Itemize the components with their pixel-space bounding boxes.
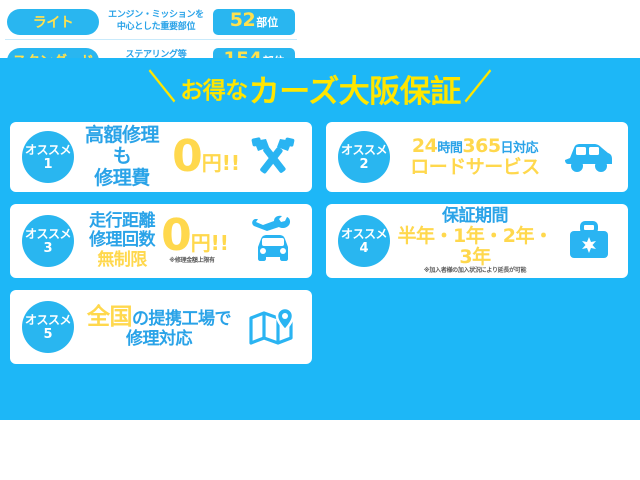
panel-2-text: 24時間365日対応 ロードサービス bbox=[410, 136, 540, 179]
wrench-car-icon bbox=[244, 215, 302, 267]
toolcase-icon bbox=[560, 221, 618, 261]
panel-2-line1: 24時間365日対応 bbox=[410, 136, 540, 157]
feature-panel-1: オススメ 1 高額修理も 修理費 0 円!! bbox=[10, 122, 312, 192]
badge-osusume-2: オススメ 2 bbox=[338, 131, 390, 183]
plan-part-count: 52 部位 bbox=[213, 9, 295, 35]
plan-name-badge: ライト bbox=[7, 9, 99, 35]
panel-5-line2: 修理対応 bbox=[87, 330, 231, 349]
header-large-text: カーズ大阪保証 bbox=[249, 66, 461, 111]
badge-osusume-3: オススメ 3 bbox=[22, 215, 74, 267]
badge-number: 5 bbox=[43, 328, 52, 341]
badge-number: 2 bbox=[359, 158, 368, 171]
panel-3-line3: 無制限 bbox=[89, 251, 155, 270]
header-slash-right: ／ bbox=[464, 71, 491, 105]
panel-2-days-unit: 日対応 bbox=[501, 141, 539, 156]
feature-panel-2: オススメ 2 24時間365日対応 ロードサービス bbox=[326, 122, 628, 192]
page-title: ＼ お得な カーズ大阪保証 ／ bbox=[0, 62, 640, 114]
plan-count-number: 52 bbox=[230, 9, 255, 31]
badge-label: オススメ bbox=[25, 314, 71, 326]
panel-3-amount-value: 0 bbox=[161, 218, 190, 254]
panel-4-line1: 保証期間 bbox=[394, 207, 556, 226]
badge-label: オススメ bbox=[341, 228, 387, 240]
badge-osusume-4: オススメ 4 bbox=[338, 215, 390, 267]
panel-4-body: 保証期間 半年・1年・2年・3年 ※加入者様の加入状況により延長が可能 bbox=[390, 207, 560, 275]
panel-3-amount-block: 0 円!! ※修理金額上限有 bbox=[155, 218, 229, 263]
header-slash-left: ＼ bbox=[149, 71, 176, 105]
panel-2-hours-unit: 時間 bbox=[437, 141, 462, 156]
feature-panel-4: オススメ 4 保証期間 半年・1年・2年・3年 ※加入者様の加入状況により延長が… bbox=[326, 204, 628, 278]
plan-desc-line2: 中心とした重要部位 bbox=[102, 22, 210, 33]
badge-number: 4 bbox=[359, 242, 368, 255]
panel-5-text: 全国の提携工場で 修理対応 bbox=[87, 305, 231, 350]
panel-1-amount-value: 0 bbox=[172, 139, 201, 175]
panel-3-amount: 0 円!! bbox=[161, 218, 229, 254]
panel-1-body: 高額修理も 修理費 0 円!! bbox=[74, 125, 244, 189]
plan-count-unit: 部位 bbox=[256, 14, 278, 30]
panel-5-rest: の提携工場で bbox=[132, 309, 231, 329]
panel-2-days-number: 365 bbox=[462, 135, 500, 157]
feature-panel-3: オススメ 3 走行距離 修理回数 無制限 0 円!! ※修理金額上限有 bbox=[10, 204, 312, 278]
badge-label: オススメ bbox=[25, 228, 71, 240]
panel-2-hours-number: 24 bbox=[412, 135, 437, 157]
badge-label: オススメ bbox=[25, 144, 71, 156]
panel-1-text: 高額修理も 修理費 bbox=[78, 125, 166, 189]
panel-1-line2: 修理費 bbox=[78, 168, 166, 189]
panel-3-text: 走行距離 修理回数 無制限 bbox=[89, 212, 155, 269]
panel-3-amount-unit: 円!! bbox=[191, 233, 229, 253]
map-pin-icon bbox=[244, 307, 302, 347]
panel-4-note: ※加入者様の加入状況により延長が可能 bbox=[394, 268, 556, 275]
panel-3-note: ※修理金額上限有 bbox=[169, 255, 214, 264]
badge-osusume-5: オススメ 5 bbox=[22, 301, 74, 353]
panel-1-amount: 0 円!! bbox=[172, 139, 240, 175]
badge-number: 3 bbox=[43, 242, 52, 255]
header-small-text: お得な bbox=[179, 71, 249, 105]
plan-description: エンジン・ミッションを 中心とした重要部位 bbox=[99, 10, 213, 33]
badge-number: 1 bbox=[43, 158, 52, 171]
badge-label: オススメ bbox=[341, 144, 387, 156]
feature-panel-5: オススメ 5 全国の提携工場で 修理対応 bbox=[10, 290, 312, 364]
panel-3-line2: 修理回数 bbox=[89, 231, 155, 250]
panel-4-text: 保証期間 半年・1年・2年・3年 ※加入者様の加入状況により延長が可能 bbox=[394, 207, 556, 275]
panel-1-amount-unit: 円!! bbox=[202, 153, 240, 173]
panel-4-line2: 半年・1年・2年・3年 bbox=[394, 226, 556, 269]
panel-5-line1: 全国の提携工場で bbox=[87, 305, 231, 331]
plan-row-light[interactable]: ライト エンジン・ミッションを 中心とした重要部位 52 部位 bbox=[5, 4, 297, 40]
panel-5-highlight: 全国 bbox=[87, 304, 132, 330]
panel-3-body: 走行距離 修理回数 無制限 0 円!! ※修理金額上限有 bbox=[74, 212, 244, 269]
badge-osusume-1: オススメ 1 bbox=[22, 131, 74, 183]
plan-desc-line1: エンジン・ミッションを bbox=[102, 10, 210, 21]
panel-2-body: 24時間365日対応 ロードサービス bbox=[390, 136, 560, 179]
panel-5-body: 全国の提携工場で 修理対応 bbox=[74, 305, 244, 350]
car-side-icon bbox=[560, 140, 618, 174]
crossed-hammers-icon bbox=[244, 137, 302, 177]
advertisement-root: ＼ お得な カーズ大阪保証 ／ オススメ 1 高額修理も 修理費 0 円!! bbox=[0, 0, 640, 480]
panel-1-line1: 高額修理も bbox=[78, 125, 166, 168]
panel-3-line1: 走行距離 bbox=[89, 212, 155, 231]
panel-2-line2: ロードサービス bbox=[410, 157, 540, 178]
